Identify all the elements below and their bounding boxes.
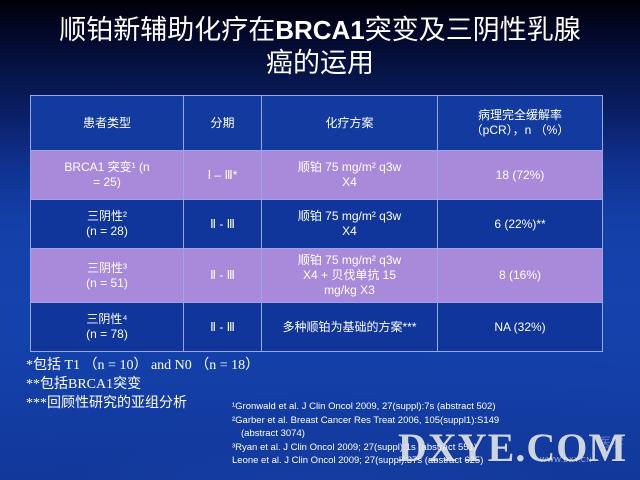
cell-regimen: 顺铂 75 mg/m² q3w X4: [262, 200, 438, 249]
regimen-line-2: X4: [267, 175, 432, 190]
regimen-line-2: X4: [267, 224, 432, 239]
cell-stage: Ⅰ – Ⅲ*: [184, 151, 262, 200]
cell-pcr: 6 (22%)**: [438, 200, 603, 249]
table-row: 三阴性³ (n = 51) Ⅱ - Ⅲ 顺铂 75 mg/m² q3w X4 +…: [31, 249, 603, 303]
regimen-line-1: 顺铂 75 mg/m² q3w: [267, 160, 432, 175]
reference-4: Leone et al. J Clin Oncol 2009; 27(suppl…: [232, 454, 632, 468]
footnote-2: **包括BRCA1突变: [26, 375, 259, 394]
footnote-3: ***回顾性研究的亚组分析: [26, 394, 259, 413]
footnote-1: *包括 T1 （n = 10） and N0 （n = 18）: [26, 356, 259, 375]
cell-regimen: 顺铂 75 mg/m² q3w X4 + 贝伐单抗 15 mg/kg X3: [262, 249, 438, 303]
cell-patient-type: 三阴性⁴ (n = 78): [31, 303, 184, 352]
slide-canvas: 顺铂新辅助化疗在BRCA1突变及三阴性乳腺癌的运用 患者类型 分期 化疗方案 病…: [0, 0, 640, 480]
cell-regimen: 顺铂 75 mg/m² q3w X4: [262, 151, 438, 200]
cell-patient-type: 三阴性³ (n = 51): [31, 249, 184, 303]
table-header-row: 患者类型 分期 化疗方案 病理完全缓解率 （pCR），n （%）: [31, 96, 603, 151]
patient-line-2: = 25): [36, 175, 178, 190]
reference-2: ²Garber et al. Breast Cancer Res Treat 2…: [232, 414, 632, 428]
title-brca1: BRCA1: [275, 15, 365, 45]
patient-line-1: 三阴性²: [36, 209, 178, 224]
chemo-regimen-table: 患者类型 分期 化疗方案 病理完全缓解率 （pCR），n （%） BRCA1 突…: [30, 95, 603, 352]
title-part-3: 癌的运用: [266, 48, 374, 78]
patient-line-1: BRCA1 突变¹ (n: [36, 160, 178, 175]
table-body: BRCA1 突变¹ (n = 25) Ⅰ – Ⅲ* 顺铂 75 mg/m² q3…: [31, 151, 603, 352]
title-part-2: 突变及三阴性乳腺: [365, 15, 581, 45]
title-part-1: 顺铂新辅助化疗在: [59, 15, 275, 45]
regimen-line-2: X4 + 贝伐单抗 15: [267, 268, 432, 283]
regimen-line-3: mg/kg X3: [267, 283, 432, 298]
patient-line-2: (n = 28): [36, 224, 178, 239]
cell-stage: Ⅱ - Ⅲ: [184, 249, 262, 303]
header-patient-type: 患者类型: [31, 96, 184, 151]
cell-patient-type: 三阴性² (n = 28): [31, 200, 184, 249]
reference-3: ³Ryan et al. J Clin Oncol 2009; 27(suppl…: [232, 441, 632, 455]
cell-pcr: NA (32%): [438, 303, 603, 352]
cell-stage: Ⅱ - Ⅲ: [184, 200, 262, 249]
table-row: BRCA1 突变¹ (n = 25) Ⅰ – Ⅲ* 顺铂 75 mg/m² q3…: [31, 151, 603, 200]
cell-patient-type: BRCA1 突变¹ (n = 25): [31, 151, 184, 200]
header-pcr-line1: 病理完全缓解率: [443, 108, 597, 123]
regimen-line-1: 顺铂 75 mg/m² q3w: [267, 209, 432, 224]
patient-line-1: 三阴性³: [36, 261, 178, 276]
cell-pcr: 18 (72%): [438, 151, 603, 200]
reference-2-cont: (abstract 3074): [232, 427, 632, 441]
cell-regimen: 多种顺铂为基础的方案***: [262, 303, 438, 352]
header-regimen: 化疗方案: [262, 96, 438, 151]
footnotes-block: *包括 T1 （n = 10） and N0 （n = 18） **包括BRCA…: [26, 356, 259, 413]
regimen-line-1: 顺铂 75 mg/m² q3w: [267, 253, 432, 268]
reference-1: ¹Gronwald et al. J Clin Oncol 2009, 27(s…: [232, 400, 632, 414]
cell-stage: Ⅱ - Ⅲ: [184, 303, 262, 352]
patient-line-2: (n = 51): [36, 276, 178, 291]
patient-line-2: (n = 78): [36, 327, 178, 342]
table-row: 三阴性⁴ (n = 78) Ⅱ - Ⅲ 多种顺铂为基础的方案*** NA (32…: [31, 303, 603, 352]
table-row: 三阴性² (n = 28) Ⅱ - Ⅲ 顺铂 75 mg/m² q3w X4 6…: [31, 200, 603, 249]
header-pcr: 病理完全缓解率 （pCR），n （%）: [438, 96, 603, 151]
header-pcr-line2: （pCR），n （%）: [443, 123, 597, 138]
table-header: 患者类型 分期 化疗方案 病理完全缓解率 （pCR），n （%）: [31, 96, 603, 151]
page-title: 顺铂新辅助化疗在BRCA1突变及三阴性乳腺癌的运用: [30, 14, 610, 80]
references-block: ¹Gronwald et al. J Clin Oncol 2009, 27(s…: [232, 400, 632, 468]
cell-pcr: 8 (16%): [438, 249, 603, 303]
header-stage: 分期: [184, 96, 262, 151]
patient-line-1: 三阴性⁴: [36, 312, 178, 327]
